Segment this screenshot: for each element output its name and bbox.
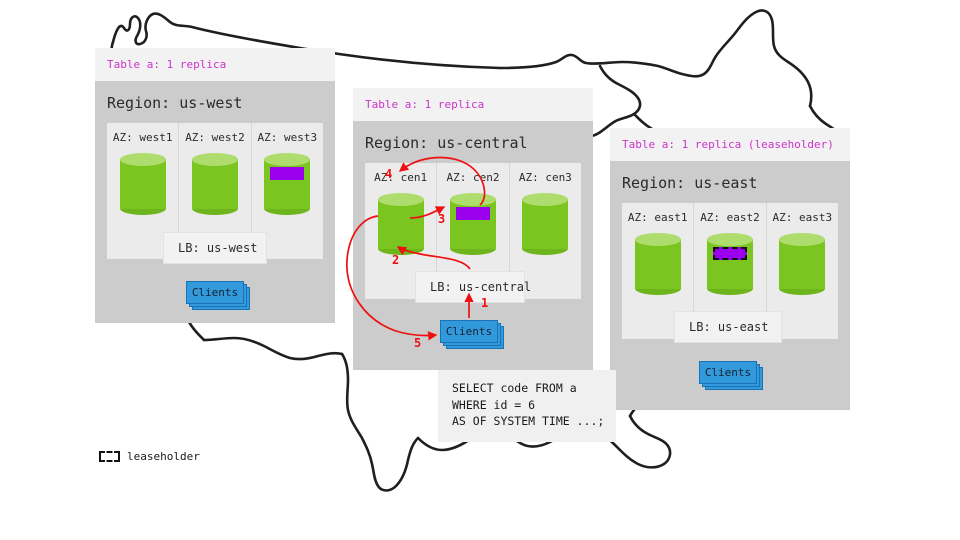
clients-us-east[interactable]: Clients [699,361,761,387]
region-title-us-east: Region: us-east [610,161,850,203]
cylinder-top [192,153,238,166]
cylinder-top [120,153,166,166]
replica-marker-east2-leaseholder [713,247,747,260]
load-balancer-us-east[interactable]: LB: us-east [674,311,782,343]
cylinder-body [192,159,238,209]
az-label-west3: AZ: west3 [258,131,318,144]
replica-marker-cen2 [456,207,490,220]
cylinder-cen1[interactable] [378,193,424,255]
region-title-us-central: Region: us-central [353,121,593,163]
cylinder-east1[interactable] [635,233,681,295]
az-label-cen3: AZ: cen3 [519,171,572,184]
cylinder-body [779,239,825,289]
clients-card-front[interactable]: Clients [186,281,244,304]
cylinder-body [635,239,681,289]
step-number-4: 4 [385,167,392,181]
region-header-us-west: Table a: 1 replica [95,48,335,81]
cylinder-cen3[interactable] [522,193,568,255]
step-number-3: 3 [438,212,445,226]
step-number-2: 2 [392,253,399,267]
cylinder-top [779,233,825,246]
az-label-cen1: AZ: cen1 [374,171,427,184]
cylinder-cen2[interactable] [450,193,496,255]
step-number-1: 1 [481,296,488,310]
cylinder-top [707,233,753,246]
replica-marker-west3 [270,167,304,180]
az-label-east1: AZ: east1 [628,211,688,224]
cylinder-east2[interactable] [707,233,753,295]
clients-us-central[interactable]: Clients [440,320,502,346]
step-number-5: 5 [414,336,421,350]
cylinder-body [378,199,424,249]
cylinder-west1[interactable] [120,153,166,215]
cylinder-body [120,159,166,209]
az-label-cen2: AZ: cen2 [447,171,500,184]
az-label-west2: AZ: west2 [185,131,245,144]
cylinder-top [378,193,424,206]
cylinder-east3[interactable] [779,233,825,295]
az-label-west1: AZ: west1 [113,131,173,144]
sql-query-box: SELECT code FROM a WHERE id = 6 AS OF SY… [438,370,616,442]
cylinder-top [635,233,681,246]
cylinder-top [450,193,496,206]
load-balancer-us-west[interactable]: LB: us-west [163,232,267,264]
region-header-us-east: Table a: 1 replica (leaseholder) [610,128,850,161]
legend-leaseholder: leaseholder [99,450,200,463]
leaseholder-swatch-icon [99,451,120,462]
clients-card-front[interactable]: Clients [699,361,757,384]
cylinder-top [522,193,568,206]
diagram-canvas: Table a: 1 replica Region: us-west AZ: w… [0,0,960,540]
region-title-us-west: Region: us-west [95,81,335,123]
az-label-east3: AZ: east3 [773,211,833,224]
cylinder-top [264,153,310,166]
cylinder-west3[interactable] [264,153,310,215]
cylinder-body [522,199,568,249]
az-label-east2: AZ: east2 [700,211,760,224]
region-header-us-central: Table a: 1 replica [353,88,593,121]
legend-label: leaseholder [127,450,200,463]
load-balancer-us-central[interactable]: LB: us-central [415,271,525,303]
clients-us-west[interactable]: Clients [186,281,248,307]
clients-card-front[interactable]: Clients [440,320,498,343]
cylinder-west2[interactable] [192,153,238,215]
